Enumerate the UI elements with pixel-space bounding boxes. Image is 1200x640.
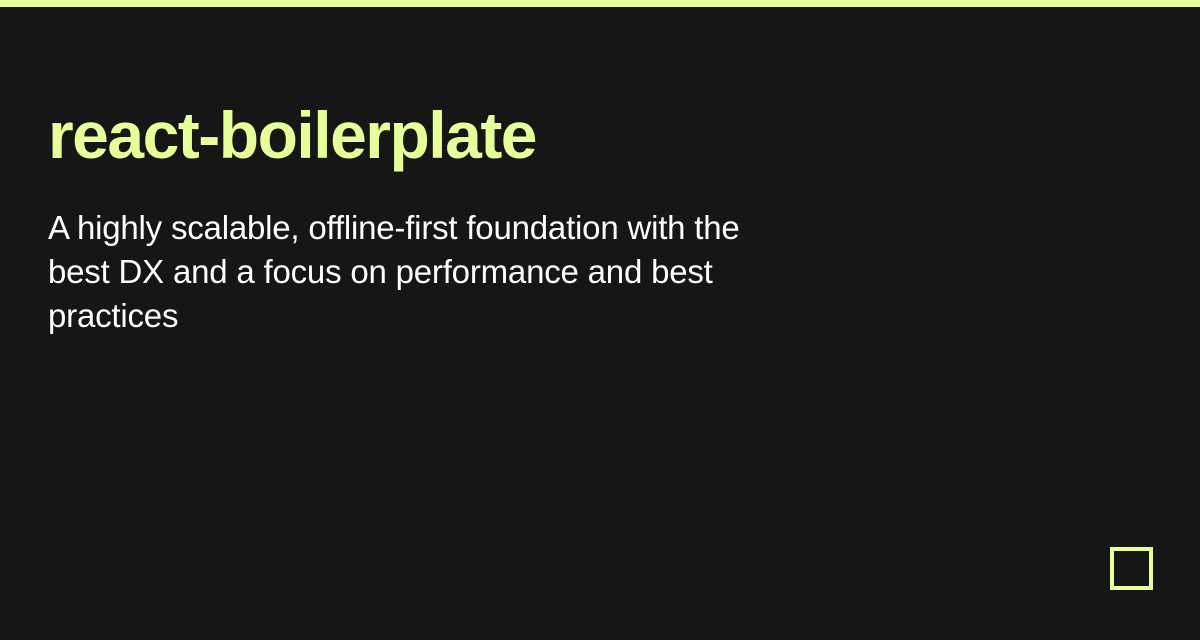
social-preview-card: react-boilerplate A highly scalable, off… [0,0,1200,640]
content-block: react-boilerplate A highly scalable, off… [48,95,848,338]
page-title: react-boilerplate [48,95,848,175]
square-outline-icon [1110,547,1153,590]
accent-bar [0,0,1200,7]
page-description: A highly scalable, offline-first foundat… [48,175,788,338]
